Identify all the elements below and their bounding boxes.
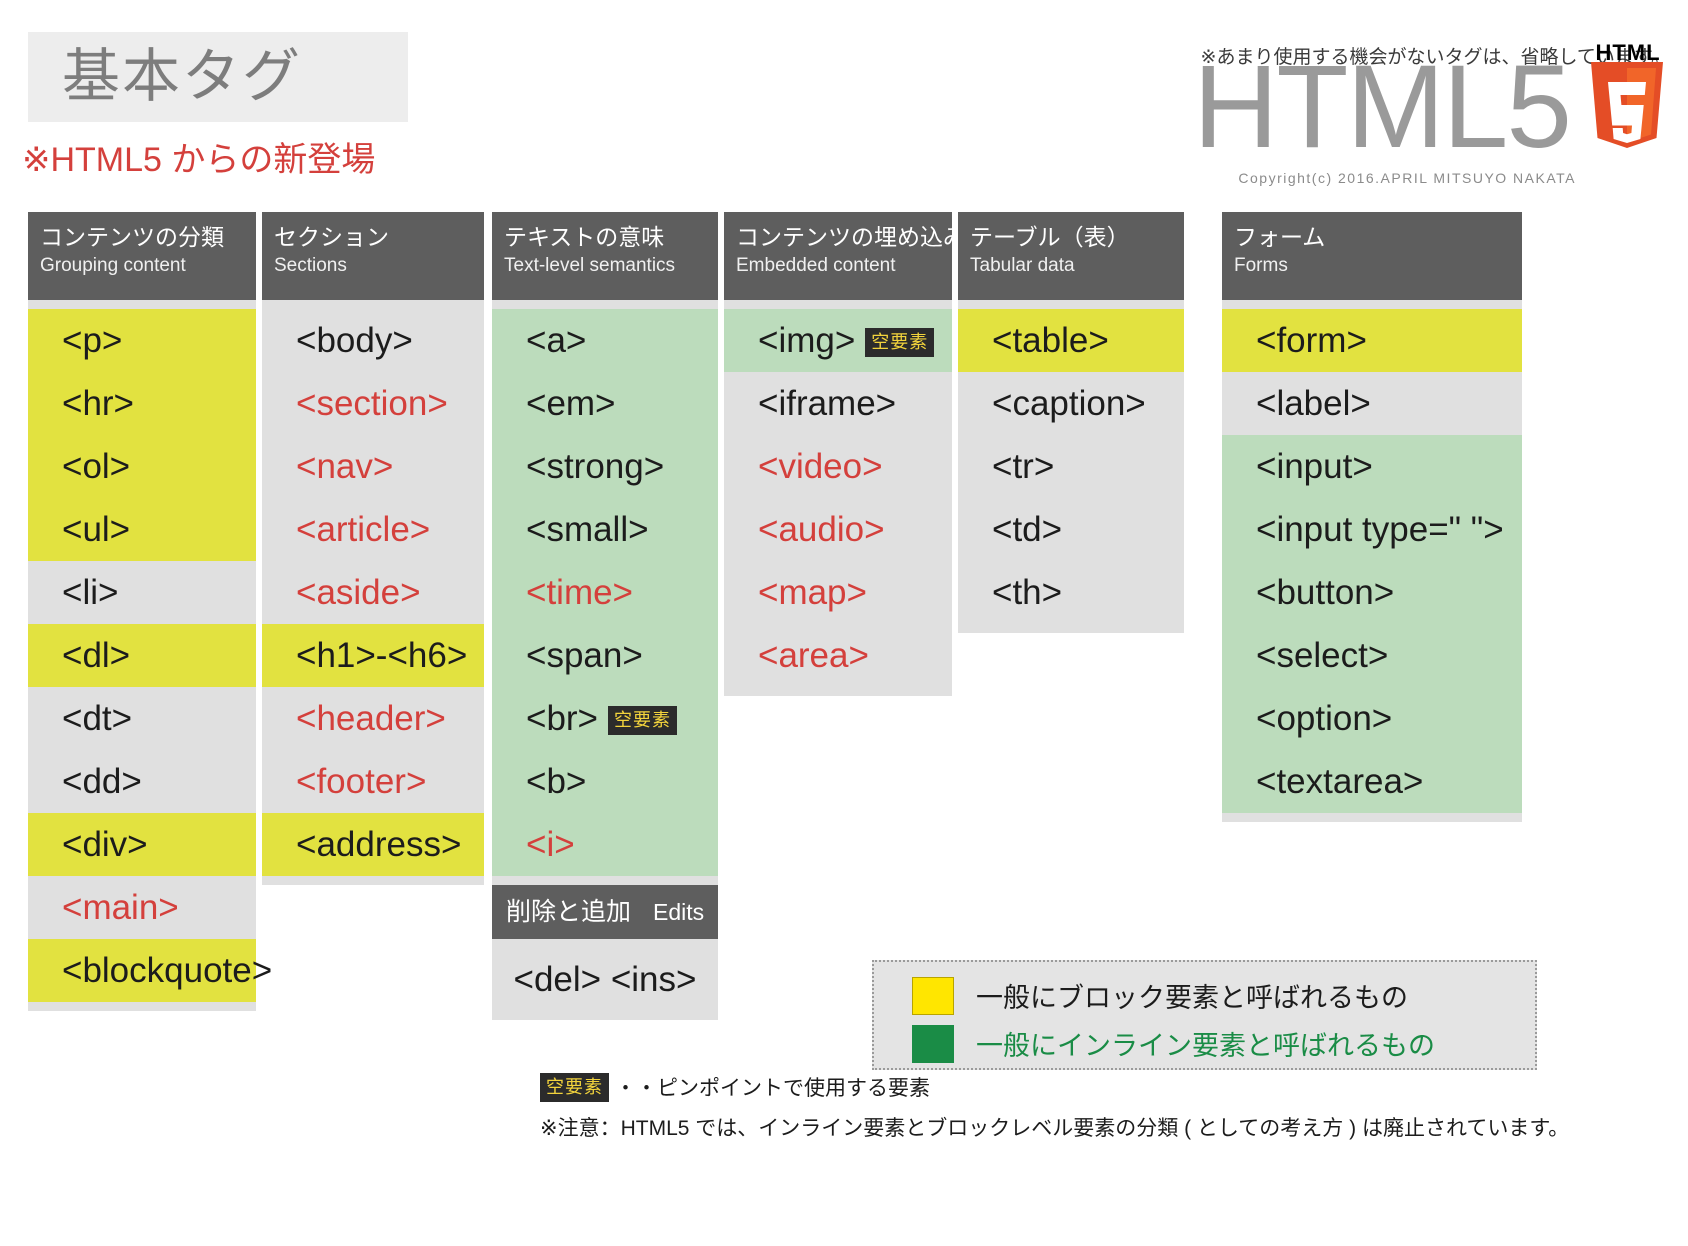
tag-row[interactable]: <select> xyxy=(1222,624,1522,687)
empty-element-badge: 空要素 xyxy=(608,706,677,735)
tag-label: <nav> xyxy=(296,447,393,486)
tag-label: <br> xyxy=(526,699,598,738)
column-header-jp: テキストの意味 xyxy=(504,222,706,252)
html5-shield-label: HTML xyxy=(1588,40,1668,66)
legend-swatch-block xyxy=(912,977,954,1015)
tag-label: <blockquote> xyxy=(62,951,272,990)
tag-label: <td> xyxy=(992,510,1062,549)
tag-row[interactable]: <blockquote> xyxy=(28,939,256,1002)
title-band: 基本タグ xyxy=(28,32,408,122)
tag-column-1: コンテンツの分類Grouping content<p><hr><ol><ul><… xyxy=(28,212,256,1011)
tag-label: <h1>-<h6> xyxy=(296,636,467,675)
tag-row[interactable]: <map> xyxy=(724,561,952,624)
column-header-en: Embedded content xyxy=(736,252,940,280)
column-subheader-jp: 削除と追加 xyxy=(506,898,631,926)
tag-label: <section> xyxy=(296,384,448,423)
tag-label: <caption> xyxy=(992,384,1146,423)
tag-label: <time> xyxy=(526,573,633,612)
tag-column-3: テキストの意味Text-level semantics<a><em><stron… xyxy=(492,212,718,1020)
tag-row[interactable]: <article> xyxy=(262,498,484,561)
shield-svg xyxy=(1584,62,1670,162)
tag-column-6: フォームForms<form><label><input><input type… xyxy=(1222,212,1522,822)
tag-label: <th> xyxy=(992,573,1062,612)
tag-row[interactable]: <dl> xyxy=(28,624,256,687)
tag-label: <label> xyxy=(1256,384,1371,423)
tag-row[interactable]: <nav> xyxy=(262,435,484,498)
copyright-text: Copyright(c) 2016.APRIL MITSUYO NAKATA xyxy=(1238,170,1576,186)
column-header: コンテンツの分類Grouping content xyxy=(28,212,256,300)
column-header: コンテンツの埋め込みEmbedded content xyxy=(724,212,952,300)
tag-label: <dd> xyxy=(62,762,142,801)
column-header: セクションSections xyxy=(262,212,484,300)
legend-label-inline: 一般にインライン要素と呼ばれるもの xyxy=(976,1024,1435,1063)
column-header: テーブル（表）Tabular data xyxy=(958,212,1184,300)
tag-label: <iframe> xyxy=(758,384,896,423)
tag-row[interactable]: <span> xyxy=(492,624,718,687)
tag-label: <hr> xyxy=(62,384,134,423)
html5-logo: HTML5 HTML xyxy=(1193,52,1670,162)
tag-row[interactable]: <body> xyxy=(262,309,484,372)
tag-row[interactable]: <a> xyxy=(492,309,718,372)
tag-row[interactable]: <hr> xyxy=(28,372,256,435)
tag-label: <aside> xyxy=(296,573,421,612)
tag-row[interactable]: <time> xyxy=(492,561,718,624)
tag-row[interactable]: <small> xyxy=(492,498,718,561)
page-subtitle: ※HTML5 からの新登場 xyxy=(22,132,375,181)
tag-label: <table> xyxy=(992,321,1109,360)
tag-label: <tr> xyxy=(992,447,1054,486)
tag-label: <header> xyxy=(296,699,446,738)
tag-board: コンテンツの分類Grouping content<p><hr><ol><ul><… xyxy=(0,212,1688,1022)
tag-row[interactable]: <tr> xyxy=(958,435,1184,498)
tag-row[interactable]: <section> xyxy=(262,372,484,435)
column-body: <p><hr><ol><ul><li><dl><dt><dd><div><mai… xyxy=(28,300,256,1011)
legend-row-inline: 一般にインライン要素と呼ばれるもの xyxy=(912,1024,1535,1063)
tag-row[interactable]: <header> xyxy=(262,687,484,750)
tag-row[interactable]: <td> xyxy=(958,498,1184,561)
tag-column-2: セクションSections<body><section><nav><articl… xyxy=(262,212,484,885)
tag-label: <main> xyxy=(62,888,179,927)
tag-label: <div> xyxy=(62,825,148,864)
tag-row[interactable]: <footer> xyxy=(262,750,484,813)
page-title: 基本タグ xyxy=(62,40,302,114)
tag-row[interactable]: <img>空要素 xyxy=(724,309,952,372)
column-header-jp: セクション xyxy=(274,222,472,252)
legend-row-block: 一般にブロック要素と呼ばれるもの xyxy=(912,976,1535,1015)
tag-row[interactable]: <ol> xyxy=(28,435,256,498)
tag-label: <button> xyxy=(1256,573,1394,612)
tag-label: <address> xyxy=(296,825,461,864)
tag-row[interactable]: <li> xyxy=(28,561,256,624)
empty-element-badge: 空要素 xyxy=(865,328,934,357)
column-body: <img>空要素<iframe><video><audio><map><area… xyxy=(724,300,952,696)
tag-row[interactable]: <caption> xyxy=(958,372,1184,435)
tag-row[interactable]: <ul> xyxy=(28,498,256,561)
tag-row[interactable]: <table> xyxy=(958,309,1184,372)
column-header-jp: コンテンツの分類 xyxy=(40,222,244,252)
column-header-jp: テーブル（表） xyxy=(970,222,1172,252)
tag-label: <footer> xyxy=(296,762,426,801)
tag-row[interactable]: <iframe> xyxy=(724,372,952,435)
tag-label: <del> <ins> xyxy=(514,960,697,999)
tag-label: <option> xyxy=(1256,699,1392,738)
tag-row[interactable]: <h1>-<h6> xyxy=(262,624,484,687)
tag-row[interactable]: <area> xyxy=(724,624,952,687)
column-subheader: 削除と追加Edits xyxy=(492,885,718,939)
column-header-jp: コンテンツの埋め込み xyxy=(736,222,940,252)
tag-columns: コンテンツの分類Grouping content<p><hr><ol><ul><… xyxy=(0,212,1688,1022)
column-header-en: Forms xyxy=(1234,252,1510,280)
column-body-sub: <del> <ins> xyxy=(492,939,718,1020)
tag-row[interactable]: <video> xyxy=(724,435,952,498)
tag-label: <i> xyxy=(526,825,575,864)
tag-label: <ul> xyxy=(62,510,130,549)
tag-row[interactable]: <input type=" "> xyxy=(1222,498,1522,561)
tag-row[interactable]: <aside> xyxy=(262,561,484,624)
column-header-en: Grouping content xyxy=(40,252,244,280)
tag-label: <dl> xyxy=(62,636,130,675)
footnote-caution: ※注意：HTML5 では、インライン要素とブロックレベル要素の分類 ( としての… xyxy=(540,1112,1569,1142)
tag-row[interactable]: <br>空要素 xyxy=(492,687,718,750)
tag-row[interactable]: <b> xyxy=(492,750,718,813)
column-header-en: Text-level semantics xyxy=(504,252,706,280)
tag-label: <span> xyxy=(526,636,643,675)
tag-row[interactable]: <th> xyxy=(958,561,1184,624)
page-header: 基本タグ ※HTML5 からの新登場 ※あまり使用する機会がないタグは、省略して… xyxy=(0,0,1688,200)
tag-row[interactable]: <em> xyxy=(492,372,718,435)
tag-label: <area> xyxy=(758,636,869,675)
legend-swatch-inline xyxy=(912,1025,954,1063)
tag-row[interactable]: <label> xyxy=(1222,372,1522,435)
tag-label: <ol> xyxy=(62,447,130,486)
tag-label: <form> xyxy=(1256,321,1367,360)
tag-row[interactable]: <i> xyxy=(492,813,718,876)
column-body: <body><section><nav><article><aside><h1>… xyxy=(262,300,484,885)
column-body: <a><em><strong><small><time><span><br>空要… xyxy=(492,300,718,885)
tag-row[interactable]: <p> xyxy=(28,309,256,372)
tag-label: <a> xyxy=(526,321,586,360)
legend-box: 一般にブロック要素と呼ばれるもの 一般にインライン要素と呼ばれるもの xyxy=(872,960,1537,1070)
tag-row[interactable]: <dt> xyxy=(28,687,256,750)
tag-label: <small> xyxy=(526,510,649,549)
html5-shield-icon: HTML xyxy=(1584,62,1670,162)
tag-row[interactable]: <option> xyxy=(1222,687,1522,750)
tag-label: <p> xyxy=(62,321,122,360)
empty-element-badge: 空要素 xyxy=(540,1073,609,1102)
column-body: <form><label><input><input type=" "><but… xyxy=(1222,300,1522,822)
html5-wordmark: HTML5 xyxy=(1193,52,1570,162)
tag-column-4: コンテンツの埋め込みEmbedded content<img>空要素<ifram… xyxy=(724,212,952,696)
tag-row[interactable]: <textarea> xyxy=(1222,750,1522,813)
tag-row[interactable]: <form> xyxy=(1222,309,1522,372)
tag-label: <b> xyxy=(526,762,586,801)
tag-label: <dt> xyxy=(62,699,132,738)
tag-label: <textarea> xyxy=(1256,762,1423,801)
tag-label: <audio> xyxy=(758,510,885,549)
tag-row[interactable]: <input> xyxy=(1222,435,1522,498)
column-header-jp: フォーム xyxy=(1234,222,1510,252)
tag-row[interactable]: <div> xyxy=(28,813,256,876)
tag-label: <img> xyxy=(758,321,855,360)
tag-label: <strong> xyxy=(526,447,664,486)
tag-row[interactable]: <del> <ins> xyxy=(492,948,718,1011)
tag-label: <input type=" "> xyxy=(1256,510,1504,549)
column-header: フォームForms xyxy=(1222,212,1522,300)
tag-label: <body> xyxy=(296,321,413,360)
column-header-en: Tabular data xyxy=(970,252,1172,280)
tag-row[interactable]: <audio> xyxy=(724,498,952,561)
column-subheader-en: Edits xyxy=(653,899,704,925)
tag-column-5: テーブル（表）Tabular data<table><caption><tr><… xyxy=(958,212,1184,633)
tag-label: <article> xyxy=(296,510,430,549)
tag-label: <input> xyxy=(1256,447,1373,486)
tag-row[interactable]: <dd> xyxy=(28,750,256,813)
column-header-en: Sections xyxy=(274,252,472,280)
tag-label: <em> xyxy=(526,384,616,423)
tag-row[interactable]: <main> xyxy=(28,876,256,939)
footnote-empty-element: 空要素 ・・ピンポイントで使用する要素 xyxy=(540,1072,930,1102)
column-header: テキストの意味Text-level semantics xyxy=(492,212,718,300)
tag-label: <li> xyxy=(62,573,118,612)
tag-row[interactable]: <address> xyxy=(262,813,484,876)
legend-label-block: 一般にブロック要素と呼ばれるもの xyxy=(976,976,1408,1015)
tag-label: <map> xyxy=(758,573,867,612)
tag-row[interactable]: <strong> xyxy=(492,435,718,498)
column-body: <table><caption><tr><td><th> xyxy=(958,300,1184,633)
footnote-empty-text: ・・ピンポイントで使用する要素 xyxy=(615,1072,930,1102)
tag-row[interactable]: <button> xyxy=(1222,561,1522,624)
tag-label: <video> xyxy=(758,447,883,486)
tag-label: <select> xyxy=(1256,636,1388,675)
